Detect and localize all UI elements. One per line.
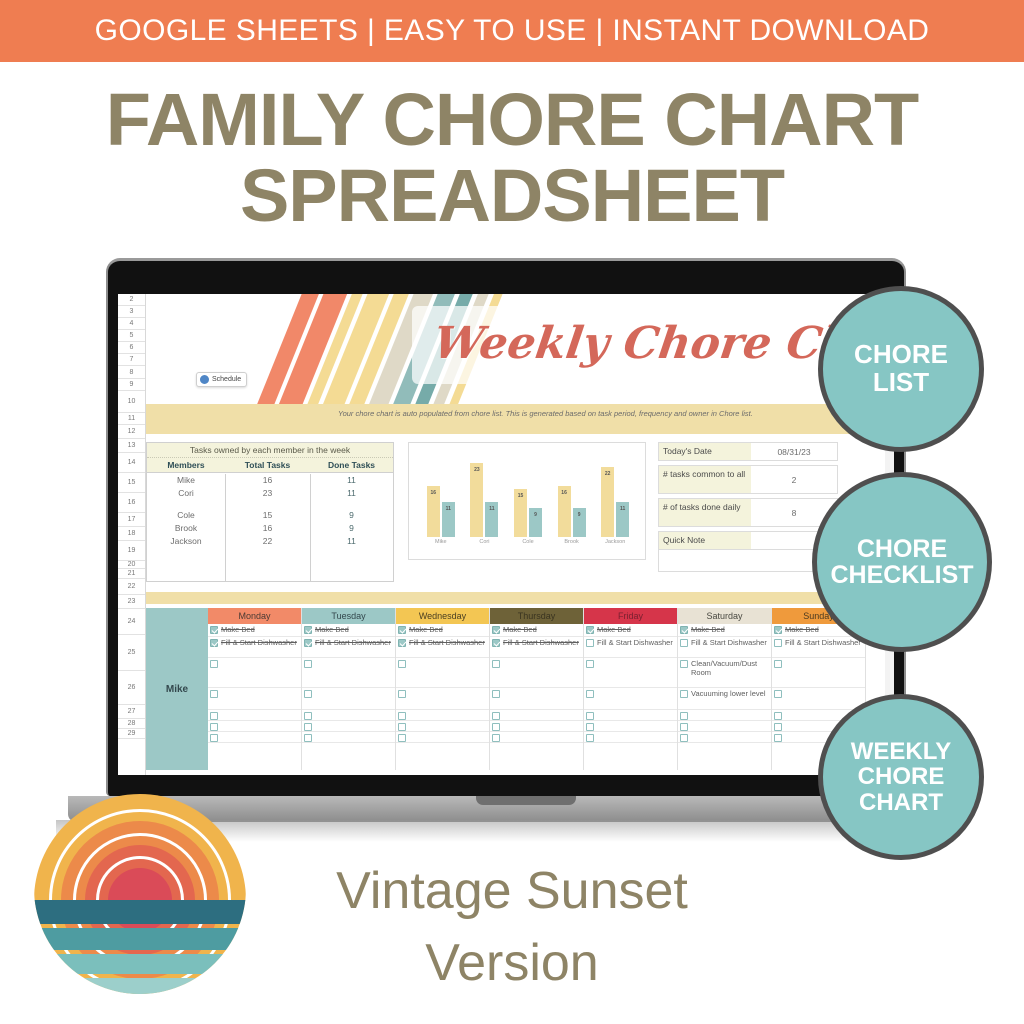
task-label: Fill & Start Dishwasher: [503, 638, 581, 656]
task-checkbox[interactable]: [492, 712, 500, 720]
task-cell: [584, 732, 677, 743]
task-checkbox[interactable]: [492, 690, 500, 698]
task-label: Fill & Start Dishwasher: [409, 638, 487, 656]
task-label: Fill & Start Dishwasher: [597, 638, 675, 656]
badge-chore-checklist[interactable]: CHORE CHECKLIST: [812, 472, 992, 652]
row-header-cell[interactable]: 24: [118, 609, 145, 635]
table-row[interactable]: Mike1611: [147, 473, 393, 486]
task-checkbox[interactable]: [210, 712, 218, 720]
laptop-screen: 2345678910111213141516171819202122232425…: [118, 294, 894, 775]
x-axis-tick-label: Brook: [557, 539, 587, 551]
bar-total-tasks: 23: [470, 463, 483, 537]
col-header-done-tasks: Done Tasks: [310, 458, 393, 472]
sheet-note-band: Your chore chart is auto populated from …: [146, 404, 866, 434]
task-cell: Make Bed: [584, 624, 677, 637]
info-panel: Today's Date 08/31/23 # tasks common to …: [658, 442, 838, 572]
task-cell: Fill & Start Dishwasher: [302, 637, 395, 658]
version-caption-line-1: Vintage Sunset: [0, 855, 1024, 927]
bar-group: 2311: [470, 463, 498, 537]
row-header-cell[interactable]: 12: [118, 425, 145, 439]
task-cell: [302, 658, 395, 688]
cell-total-tasks: 15: [225, 508, 310, 521]
cell-total-tasks: 16: [225, 521, 310, 534]
row-header-cell[interactable]: 7: [118, 354, 145, 366]
task-cell: [490, 710, 583, 721]
task-cell: [302, 721, 395, 732]
task-checkbox[interactable]: [680, 639, 688, 647]
task-checkbox[interactable]: [680, 660, 688, 668]
row-header-cell[interactable]: 2: [118, 294, 145, 306]
schedule-chip-label: Schedule: [212, 376, 241, 383]
task-checkbox[interactable]: [586, 723, 594, 731]
quick-note-label: Quick Note: [659, 532, 751, 549]
cell-done-tasks: 11: [310, 473, 393, 486]
schedule-chip[interactable]: Schedule: [196, 372, 247, 387]
task-checkbox[interactable]: [304, 660, 312, 668]
x-axis-tick-label: Jackson: [600, 539, 630, 551]
badge-weekly-line-1: WEEKLY: [851, 739, 951, 764]
task-cell: Make Bed: [490, 624, 583, 637]
row-header-cell[interactable]: 25: [118, 635, 145, 671]
task-checkbox[interactable]: [398, 734, 406, 742]
task-label: Make Bed: [315, 625, 393, 635]
row-header-cell[interactable]: 17: [118, 513, 145, 527]
task-label: Make Bed: [221, 625, 299, 635]
task-checkbox[interactable]: [398, 626, 406, 634]
row-header-cell[interactable]: 10: [118, 391, 145, 413]
bar-value-label: 11: [442, 506, 455, 512]
bar-group: 169: [558, 486, 586, 537]
task-label: Fill & Start Dishwasher: [691, 638, 769, 656]
task-cell: [490, 732, 583, 743]
task-label: [597, 659, 675, 686]
task-cell: [208, 710, 301, 721]
row-header-cell[interactable]: 29: [118, 729, 145, 739]
task-cell: Make Bed: [208, 624, 301, 637]
task-label: Make Bed: [409, 625, 487, 635]
task-label: Fill & Start Dishwasher: [785, 638, 863, 656]
task-cell: Make Bed: [302, 624, 395, 637]
laptop-mockup: 2345678910111213141516171819202122232425…: [106, 258, 906, 840]
bar-value-label: 16: [558, 490, 571, 496]
row-header-cell[interactable]: 11: [118, 413, 145, 425]
bar-value-label: 22: [601, 471, 614, 477]
row-header-cell[interactable]: 15: [118, 473, 145, 493]
spreadsheet-row-headers[interactable]: 2345678910111213141516171819202122232425…: [118, 294, 146, 775]
bar-total-tasks: 22: [601, 467, 614, 537]
task-label: [503, 659, 581, 686]
task-label: [221, 689, 299, 708]
bar-done-tasks: 9: [573, 508, 586, 537]
bar-total-tasks: 16: [427, 486, 440, 537]
task-cell: [584, 721, 677, 732]
members-table-divider-2: [310, 474, 311, 582]
members-table-title: Tasks owned by each member in the week: [147, 443, 393, 458]
task-label: Clean/Vacuum/Dust Room: [691, 659, 769, 686]
task-checkbox[interactable]: [586, 734, 594, 742]
bar-total-tasks: 16: [558, 486, 571, 537]
task-checkbox[interactable]: [398, 723, 406, 731]
quick-note-body[interactable]: [658, 550, 838, 572]
badge-chore-list-line-2: LIST: [854, 369, 948, 397]
task-checkbox[interactable]: [398, 712, 406, 720]
task-label: [503, 689, 581, 708]
promo-banner-text: GOOGLE SHEETS | EASY TO USE | INSTANT DO…: [95, 14, 930, 48]
task-checkbox[interactable]: [304, 712, 312, 720]
task-cell: [490, 688, 583, 710]
version-caption: Vintage Sunset Version: [0, 855, 1024, 999]
version-caption-line-2: Version: [0, 927, 1024, 999]
task-cell: Fill & Start Dishwasher: [584, 637, 677, 658]
date-value[interactable]: 08/31/23: [751, 443, 837, 460]
task-checkbox[interactable]: [774, 660, 782, 668]
task-cell: Fill & Start Dishwasher: [490, 637, 583, 658]
task-label: Fill & Start Dishwasher: [315, 638, 393, 656]
task-label: [597, 689, 675, 708]
row-header-cell[interactable]: 13: [118, 439, 145, 453]
task-cell: [302, 688, 395, 710]
task-cell: Vacuuming lower level: [678, 688, 771, 710]
task-label: [409, 689, 487, 708]
task-cell: [772, 658, 865, 688]
task-checkbox[interactable]: [680, 723, 688, 731]
badge-chore-checklist-line-2: CHECKLIST: [830, 562, 973, 589]
badge-weekly-line-3: CHART: [851, 790, 951, 815]
task-checkbox[interactable]: [774, 626, 782, 634]
page-title-line-1: FAMILY CHORE CHART: [0, 80, 1024, 160]
day-column-thursday: ThursdayMake BedFill & Start Dishwasher: [490, 608, 584, 770]
laptop-trackpad-notch: [476, 796, 576, 805]
row-header-cell[interactable]: 16: [118, 493, 145, 513]
day-header[interactable]: Monday: [208, 608, 301, 624]
task-checkbox[interactable]: [586, 639, 594, 647]
row-header-cell[interactable]: 18: [118, 527, 145, 541]
cell-member: Cori: [147, 486, 225, 499]
sheet-banner-title: Weekly Chore Chart: [430, 318, 836, 369]
members-table-divider-1: [225, 474, 226, 582]
cell-member: Mike: [147, 473, 225, 486]
task-checkbox[interactable]: [586, 626, 594, 634]
day-column-friday: FridayMake BedFill & Start Dishwasher: [584, 608, 678, 770]
task-cell: [396, 721, 489, 732]
task-checkbox[interactable]: [210, 690, 218, 698]
task-cell: [302, 710, 395, 721]
grid-day-columns: MondayMake BedFill & Start DishwasherTue…: [208, 608, 866, 770]
task-checkbox[interactable]: [680, 626, 688, 634]
day-header[interactable]: Friday: [584, 608, 677, 624]
task-checkbox[interactable]: [492, 723, 500, 731]
day-header[interactable]: Tuesday: [302, 608, 395, 624]
common-tasks-value[interactable]: 2: [751, 466, 837, 493]
bar-total-tasks: 15: [514, 489, 527, 537]
col-header-total-tasks: Total Tasks: [225, 458, 310, 472]
task-cell: [584, 688, 677, 710]
cell-done-tasks: 9: [310, 508, 393, 521]
row-header-cell[interactable]: 14: [118, 453, 145, 473]
task-cell: [396, 710, 489, 721]
row-header-cell[interactable]: 23: [118, 595, 145, 609]
task-checkbox[interactable]: [680, 712, 688, 720]
bar-group: 159: [514, 489, 542, 537]
row-header-cell[interactable]: 9: [118, 379, 145, 391]
task-cell: Fill & Start Dishwasher: [208, 637, 301, 658]
task-cell: [396, 688, 489, 710]
bar-group: 1611: [427, 486, 455, 537]
page-title: FAMILY CHORE CHART SPREADSHEET: [0, 80, 1024, 236]
task-checkbox[interactable]: [586, 712, 594, 720]
bar-value-label: 23: [470, 467, 483, 473]
row-header-cell[interactable]: 22: [118, 579, 145, 595]
cell-done-tasks: 11: [310, 486, 393, 499]
task-cell: Make Bed: [396, 624, 489, 637]
row-header-cell[interactable]: 21: [118, 569, 145, 579]
row-header-cell[interactable]: 4: [118, 318, 145, 330]
task-checkbox[interactable]: [492, 626, 500, 634]
schedule-icon: [200, 375, 209, 384]
sheet-note-text: Your chore chart is auto populated from …: [338, 408, 858, 419]
info-row-date: Today's Date 08/31/23: [658, 442, 838, 461]
x-axis-tick-label: Cori: [469, 539, 499, 551]
task-label: Vacuuming lower level: [691, 689, 769, 708]
task-checkbox[interactable]: [304, 639, 312, 647]
row-header-cell[interactable]: 26: [118, 671, 145, 705]
row-header-cell[interactable]: 3: [118, 306, 145, 318]
task-checkbox[interactable]: [492, 639, 500, 647]
task-label: Make Bed: [597, 625, 675, 635]
task-cell: [208, 732, 301, 743]
task-label: [315, 659, 393, 686]
bar-value-label: 11: [616, 506, 629, 512]
daily-tasks-label: # of tasks done daily: [659, 499, 751, 526]
common-tasks-label: # tasks common to all: [659, 466, 751, 493]
task-checkbox[interactable]: [304, 690, 312, 698]
section-divider: [146, 592, 866, 604]
x-axis-tick-label: Cole: [513, 539, 543, 551]
row-header-cell[interactable]: 28: [118, 719, 145, 729]
task-checkbox[interactable]: [774, 734, 782, 742]
task-checkbox[interactable]: [304, 723, 312, 731]
bar-value-label: 16: [427, 490, 440, 496]
task-checkbox[interactable]: [492, 660, 500, 668]
task-label: [785, 659, 863, 686]
badge-weekly-chore-chart[interactable]: WEEKLY CHORE CHART: [818, 694, 984, 860]
bar-done-tasks: 11: [485, 502, 498, 537]
task-checkbox[interactable]: [680, 734, 688, 742]
bar-value-label: 11: [485, 506, 498, 512]
task-checkbox[interactable]: [398, 639, 406, 647]
row-header-cell[interactable]: 27: [118, 705, 145, 719]
task-cell: Clean/Vacuum/Dust Room: [678, 658, 771, 688]
bar-chart-x-axis-labels: MikeCoriColeBrookJackson: [419, 539, 637, 551]
bar-group: 2211: [601, 467, 629, 537]
task-cell: [490, 658, 583, 688]
task-cell: [490, 721, 583, 732]
task-cell: [678, 710, 771, 721]
table-row[interactable]: Cori2311: [147, 486, 393, 499]
grid-member-name: Mike: [146, 608, 208, 770]
bar-done-tasks: 11: [616, 502, 629, 537]
task-checkbox[interactable]: [398, 660, 406, 668]
task-checkbox[interactable]: [774, 639, 782, 647]
task-checkbox[interactable]: [680, 690, 688, 698]
cell-total-tasks: 22: [225, 534, 310, 547]
row-header-cell[interactable]: 19: [118, 541, 145, 561]
spreadsheet: 2345678910111213141516171819202122232425…: [118, 294, 894, 775]
cell-done-tasks: 11: [310, 534, 393, 547]
bar-done-tasks: 11: [442, 502, 455, 537]
task-checkbox[interactable]: [210, 734, 218, 742]
task-label: Make Bed: [503, 625, 581, 635]
task-cell: Fill & Start Dishwasher: [396, 637, 489, 658]
task-cell: [302, 732, 395, 743]
task-checkbox[interactable]: [210, 626, 218, 634]
info-row-quick-note: Quick Note: [658, 531, 838, 550]
weekly-chore-grid: Mike MondayMake BedFill & Start Dishwash…: [146, 608, 866, 770]
cell-member: Jackson: [147, 534, 225, 547]
badge-chore-list[interactable]: CHORE LIST: [818, 286, 984, 452]
task-label: [315, 689, 393, 708]
date-label: Today's Date: [659, 443, 751, 460]
cell-member: Brook: [147, 521, 225, 534]
badge-chore-checklist-line-1: CHORE: [830, 536, 973, 563]
day-header[interactable]: Saturday: [678, 608, 771, 624]
bar-chart-plot-area: 161123111591692211: [419, 457, 637, 537]
day-column-tuesday: TuesdayMake BedFill & Start Dishwasher: [302, 608, 396, 770]
table-row[interactable]: Brook169: [147, 521, 393, 534]
badge-chore-list-line-1: CHORE: [854, 341, 948, 369]
members-table-rows: Mike1611Cori2311Cole159Brook169Jackson22…: [147, 473, 393, 547]
task-label: [409, 659, 487, 686]
task-checkbox[interactable]: [774, 723, 782, 731]
task-cell: [208, 658, 301, 688]
task-cell: [772, 688, 865, 710]
cell-done-tasks: 9: [310, 521, 393, 534]
table-row[interactable]: Jackson2211: [147, 534, 393, 547]
members-summary-table: Tasks owned by each member in the week M…: [146, 442, 394, 582]
bar-value-label: 9: [573, 512, 586, 518]
task-checkbox[interactable]: [304, 626, 312, 634]
info-row-common-tasks: # tasks common to all 2: [658, 465, 838, 494]
badge-weekly-line-2: CHORE: [851, 764, 951, 789]
sheet-header-artwork: Weekly Chore Chart Schedule: [146, 294, 836, 404]
members-table-header: Members Total Tasks Done Tasks: [147, 458, 393, 473]
day-column-monday: MondayMake BedFill & Start Dishwasher: [208, 608, 302, 770]
task-cell: [584, 710, 677, 721]
row-header-cell[interactable]: 8: [118, 366, 145, 379]
task-cell: [678, 721, 771, 732]
task-cell: [584, 658, 677, 688]
task-label: Make Bed: [691, 625, 769, 635]
task-cell: [208, 721, 301, 732]
cell-total-tasks: 23: [225, 486, 310, 499]
row-header-cell[interactable]: 5: [118, 330, 145, 342]
task-label: [785, 689, 863, 708]
task-cell: Make Bed: [678, 624, 771, 637]
task-cell: Fill & Start Dishwasher: [678, 637, 771, 658]
task-checkbox[interactable]: [774, 712, 782, 720]
task-label: [221, 659, 299, 686]
day-column-wednesday: WednesdayMake BedFill & Start Dishwasher: [396, 608, 490, 770]
row-header-cell[interactable]: 6: [118, 342, 145, 354]
bar-done-tasks: 9: [529, 508, 542, 537]
task-checkbox[interactable]: [210, 660, 218, 668]
bar-value-label: 9: [529, 512, 542, 518]
day-header[interactable]: Wednesday: [396, 608, 489, 624]
task-cell: [208, 688, 301, 710]
task-cell: [396, 658, 489, 688]
table-row: [147, 499, 393, 508]
day-header[interactable]: Thursday: [490, 608, 583, 624]
info-row-daily-tasks: # of tasks done daily 8: [658, 498, 838, 527]
page-title-line-2: SPREADSHEET: [0, 156, 1024, 236]
cell-member: Cole: [147, 508, 225, 521]
tasks-bar-chart: 161123111591692211 MikeCoriColeBrookJack…: [408, 442, 646, 560]
task-label: Fill & Start Dishwasher: [221, 638, 299, 656]
table-row[interactable]: Cole159: [147, 508, 393, 521]
task-checkbox[interactable]: [304, 734, 312, 742]
task-cell: [678, 732, 771, 743]
task-cell: [396, 732, 489, 743]
task-checkbox[interactable]: [586, 660, 594, 668]
task-checkbox[interactable]: [210, 639, 218, 647]
task-checkbox[interactable]: [398, 690, 406, 698]
cell-total-tasks: 16: [225, 473, 310, 486]
task-checkbox[interactable]: [774, 690, 782, 698]
row-header-cell[interactable]: 20: [118, 561, 145, 569]
bar-value-label: 15: [514, 493, 527, 499]
promo-banner: GOOGLE SHEETS | EASY TO USE | INSTANT DO…: [0, 0, 1024, 62]
day-column-saturday: SaturdayMake BedFill & Start DishwasherC…: [678, 608, 772, 770]
task-checkbox[interactable]: [586, 690, 594, 698]
task-checkbox[interactable]: [492, 734, 500, 742]
task-cell: Fill & Start Dishwasher: [772, 637, 865, 658]
col-header-members: Members: [147, 458, 225, 472]
spreadsheet-body: Weekly Chore Chart Schedule Your chore c…: [146, 294, 894, 775]
task-checkbox[interactable]: [210, 723, 218, 731]
x-axis-tick-label: Mike: [426, 539, 456, 551]
